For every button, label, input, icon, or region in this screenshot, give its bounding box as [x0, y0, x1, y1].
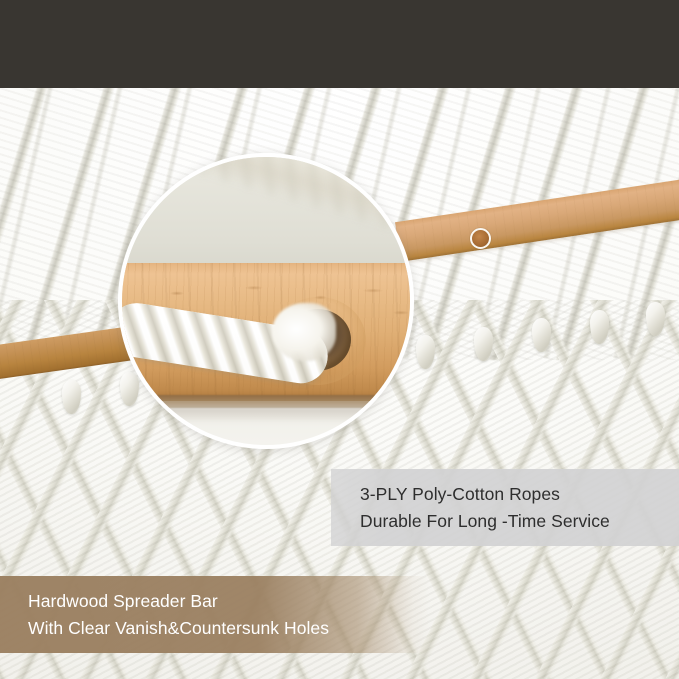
callout-spreader-bar: Hardwood Spreader Bar With Clear Vanish&…	[0, 576, 430, 653]
callout-spreader-bar-line-1: Hardwood Spreader Bar	[28, 588, 430, 615]
callout-spreader-bar-line-2: With Clear Vanish&Countersunk Holes	[28, 615, 430, 642]
callout-ropes: 3-PLY Poly-Cotton Ropes Durable For Long…	[331, 469, 679, 546]
magnifier-inset-circle	[118, 153, 414, 449]
product-feature-image: High Quality Materials 3-PLY Poly-Cotton…	[0, 0, 679, 679]
callout-ropes-line-1: 3-PLY Poly-Cotton Ropes	[360, 481, 679, 508]
countersunk-hole-icon	[470, 228, 491, 249]
header-banner	[0, 0, 679, 88]
inset-wood-shadow	[118, 407, 414, 423]
callout-ropes-line-2: Durable For Long -Time Service	[360, 508, 679, 535]
inset-rope-frayed-end	[272, 303, 336, 361]
